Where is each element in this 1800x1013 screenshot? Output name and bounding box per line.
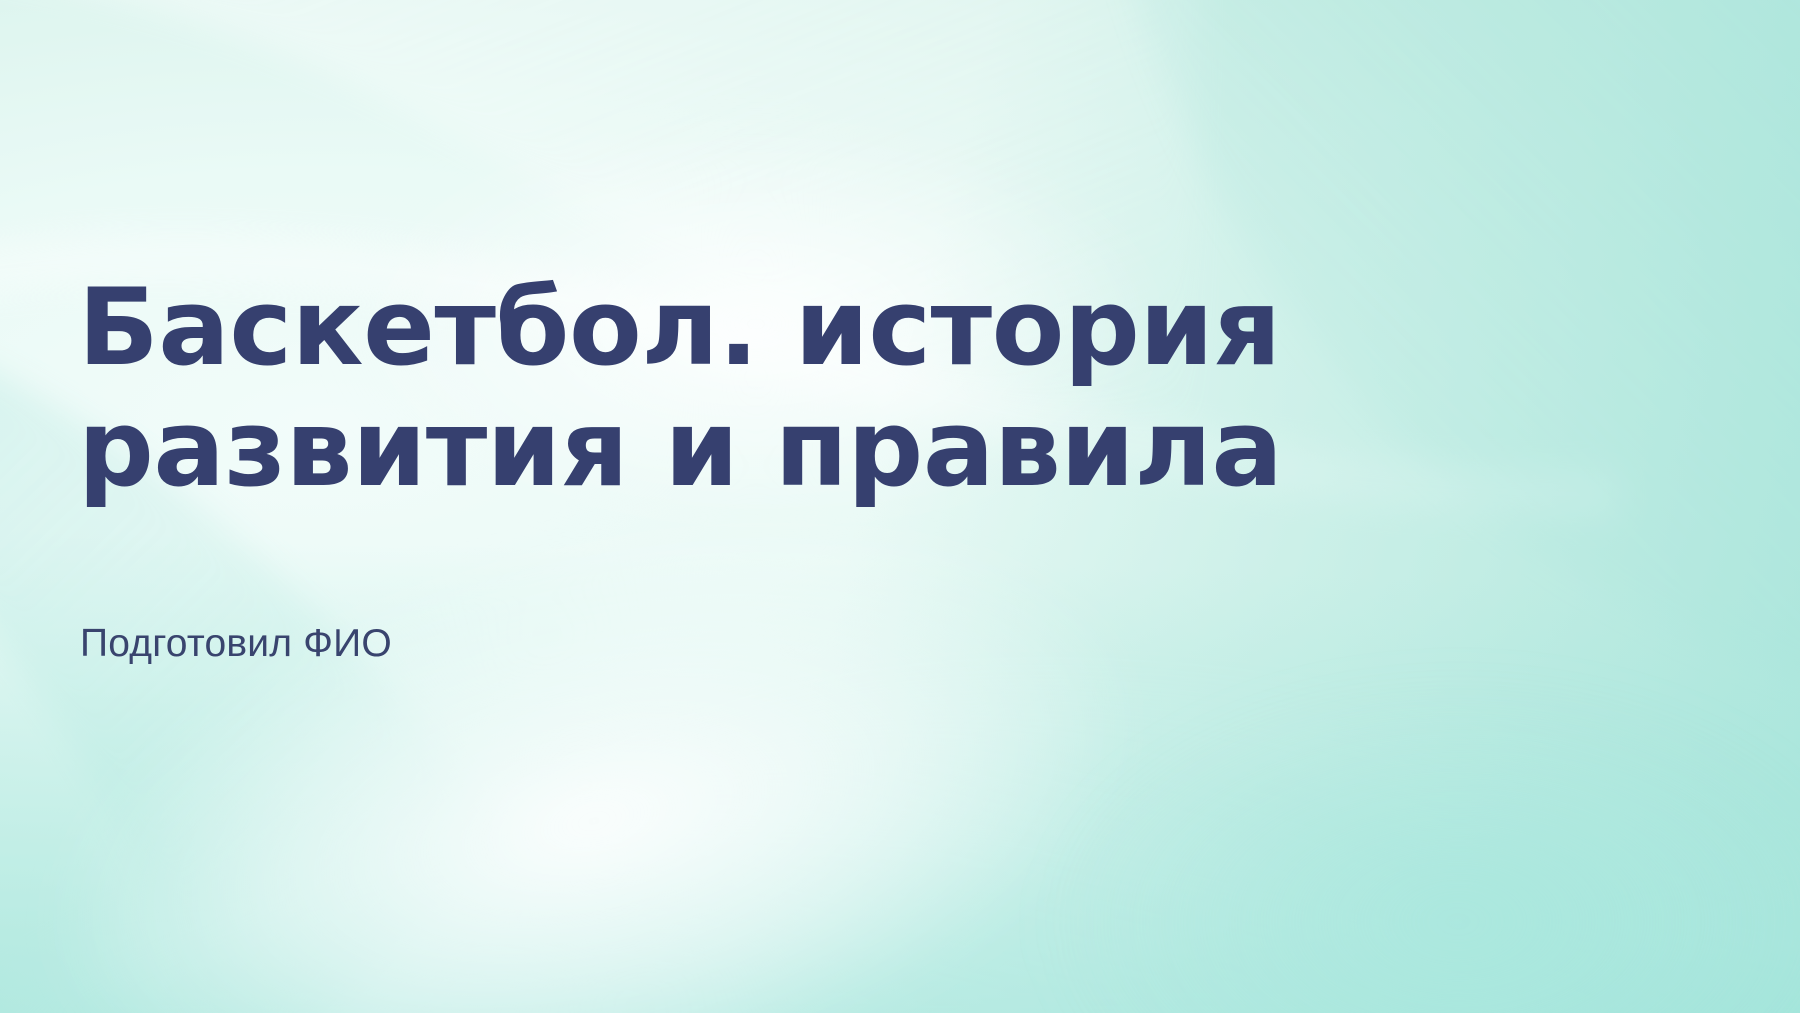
- title-slide: Баскетбол. история развития и правила По…: [0, 0, 1800, 1013]
- slide-subtitle-author: Подготовил ФИО: [80, 620, 392, 669]
- slide-content: Баскетбол. история развития и правила По…: [78, 0, 1398, 1013]
- slide-title: Баскетбол. история развития и правила: [78, 268, 1288, 510]
